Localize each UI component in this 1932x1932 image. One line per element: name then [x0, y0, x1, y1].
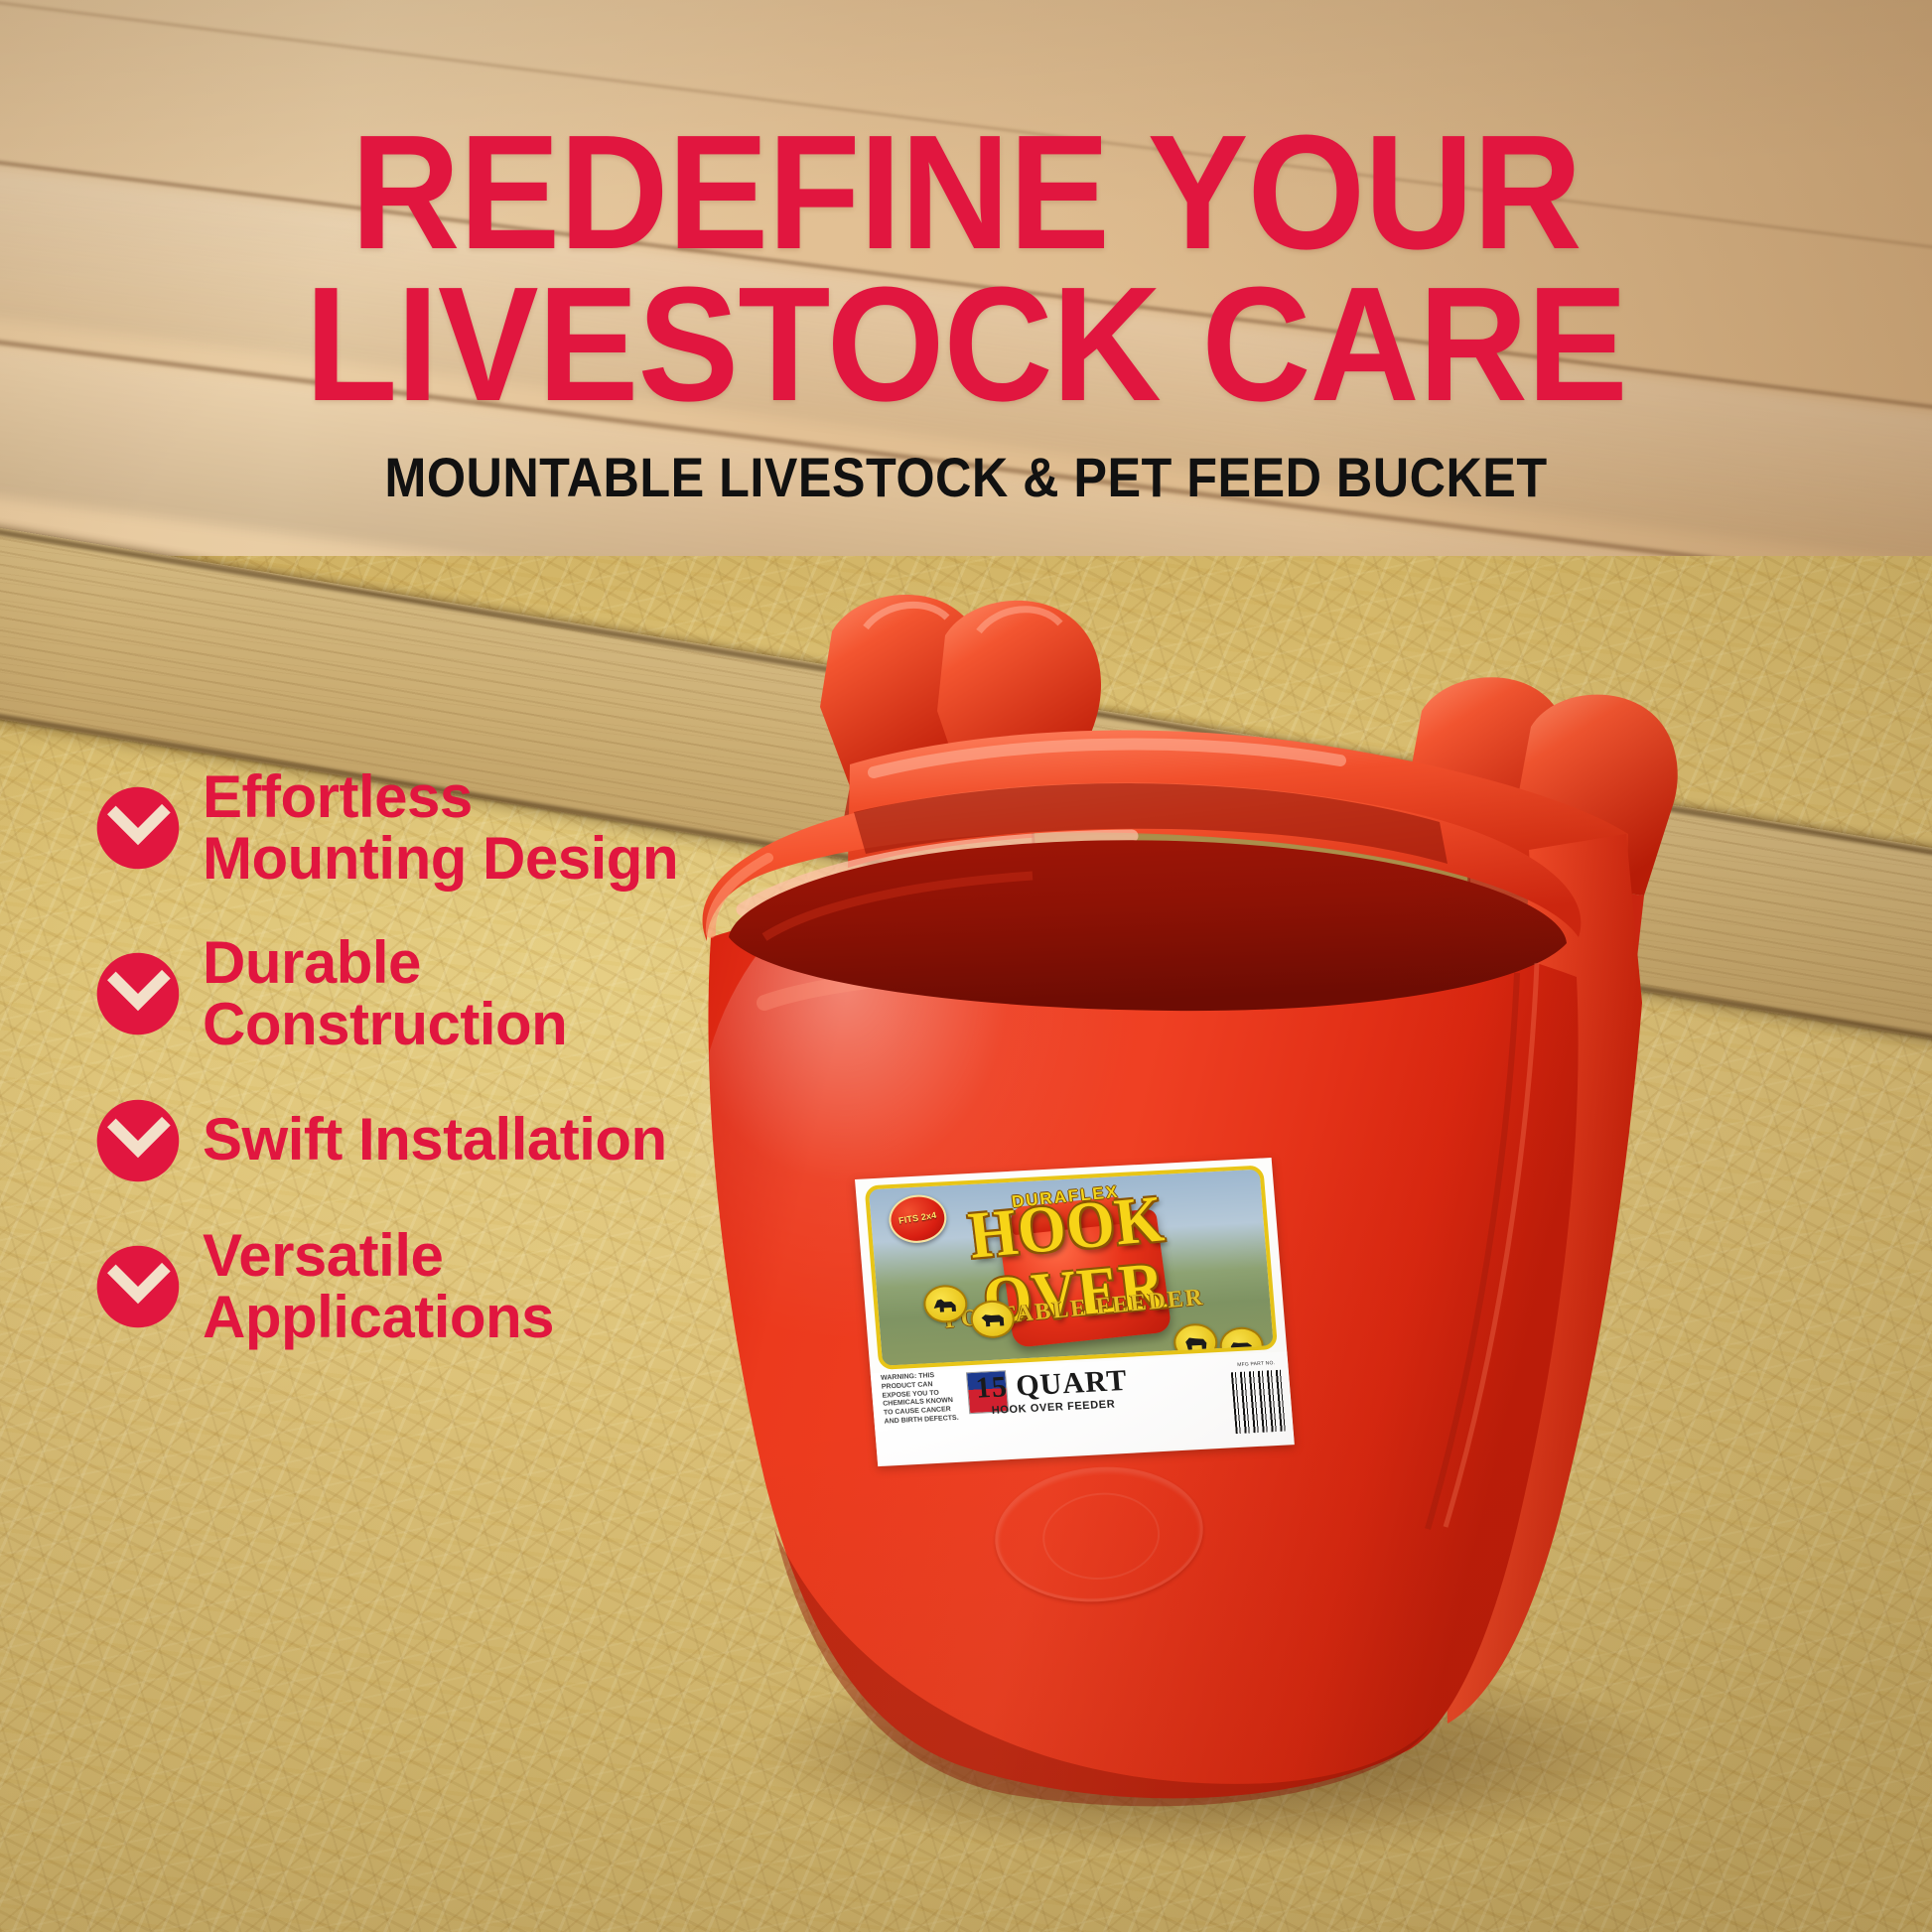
fits-badge-text: FITS 2x4 — [897, 1211, 937, 1226]
feature-label: Swift Installation — [203, 1109, 667, 1171]
check-circle-icon — [95, 1098, 181, 1183]
label-artwork-scene: DURAFLEX HOOK OVER PORTABLE FEEDER FITS … — [865, 1165, 1279, 1369]
check-circle-icon — [95, 785, 181, 871]
feature-list: Effortless Mounting Design Durable Const… — [95, 766, 711, 1402]
feature-item: Durable Construction — [95, 932, 711, 1056]
feature-label: Effortless Mounting Design — [203, 766, 711, 891]
barcode-label: MFG PART NO. — [1230, 1360, 1282, 1369]
label-footer: WARNING: THIS PRODUCT CAN EXPOSE YOU TO … — [871, 1351, 1295, 1464]
product-label: DURAFLEX HOOK OVER PORTABLE FEEDER FITS … — [855, 1158, 1295, 1466]
feature-label: Versatile Applications — [203, 1225, 711, 1349]
page-subtitle: MOUNTABLE LIVESTOCK & PET FEED BUCKET — [96, 445, 1835, 509]
feature-label: Durable Construction — [203, 932, 711, 1056]
feature-item: Swift Installation — [95, 1098, 711, 1183]
barcode-icon — [1231, 1370, 1288, 1435]
check-circle-icon — [95, 951, 181, 1036]
promo-image-canvas: DURAFLEX HOOK OVER PORTABLE FEEDER FITS … — [0, 0, 1932, 1932]
check-circle-icon — [95, 1244, 181, 1329]
headline-line-2: LIVESTOCK CARE — [68, 269, 1864, 421]
headline-line-1: REDEFINE YOUR — [68, 117, 1864, 269]
feature-item: Versatile Applications — [95, 1225, 711, 1349]
page-title: REDEFINE YOUR LIVESTOCK CARE — [68, 117, 1864, 420]
feature-item: Effortless Mounting Design — [95, 766, 711, 891]
